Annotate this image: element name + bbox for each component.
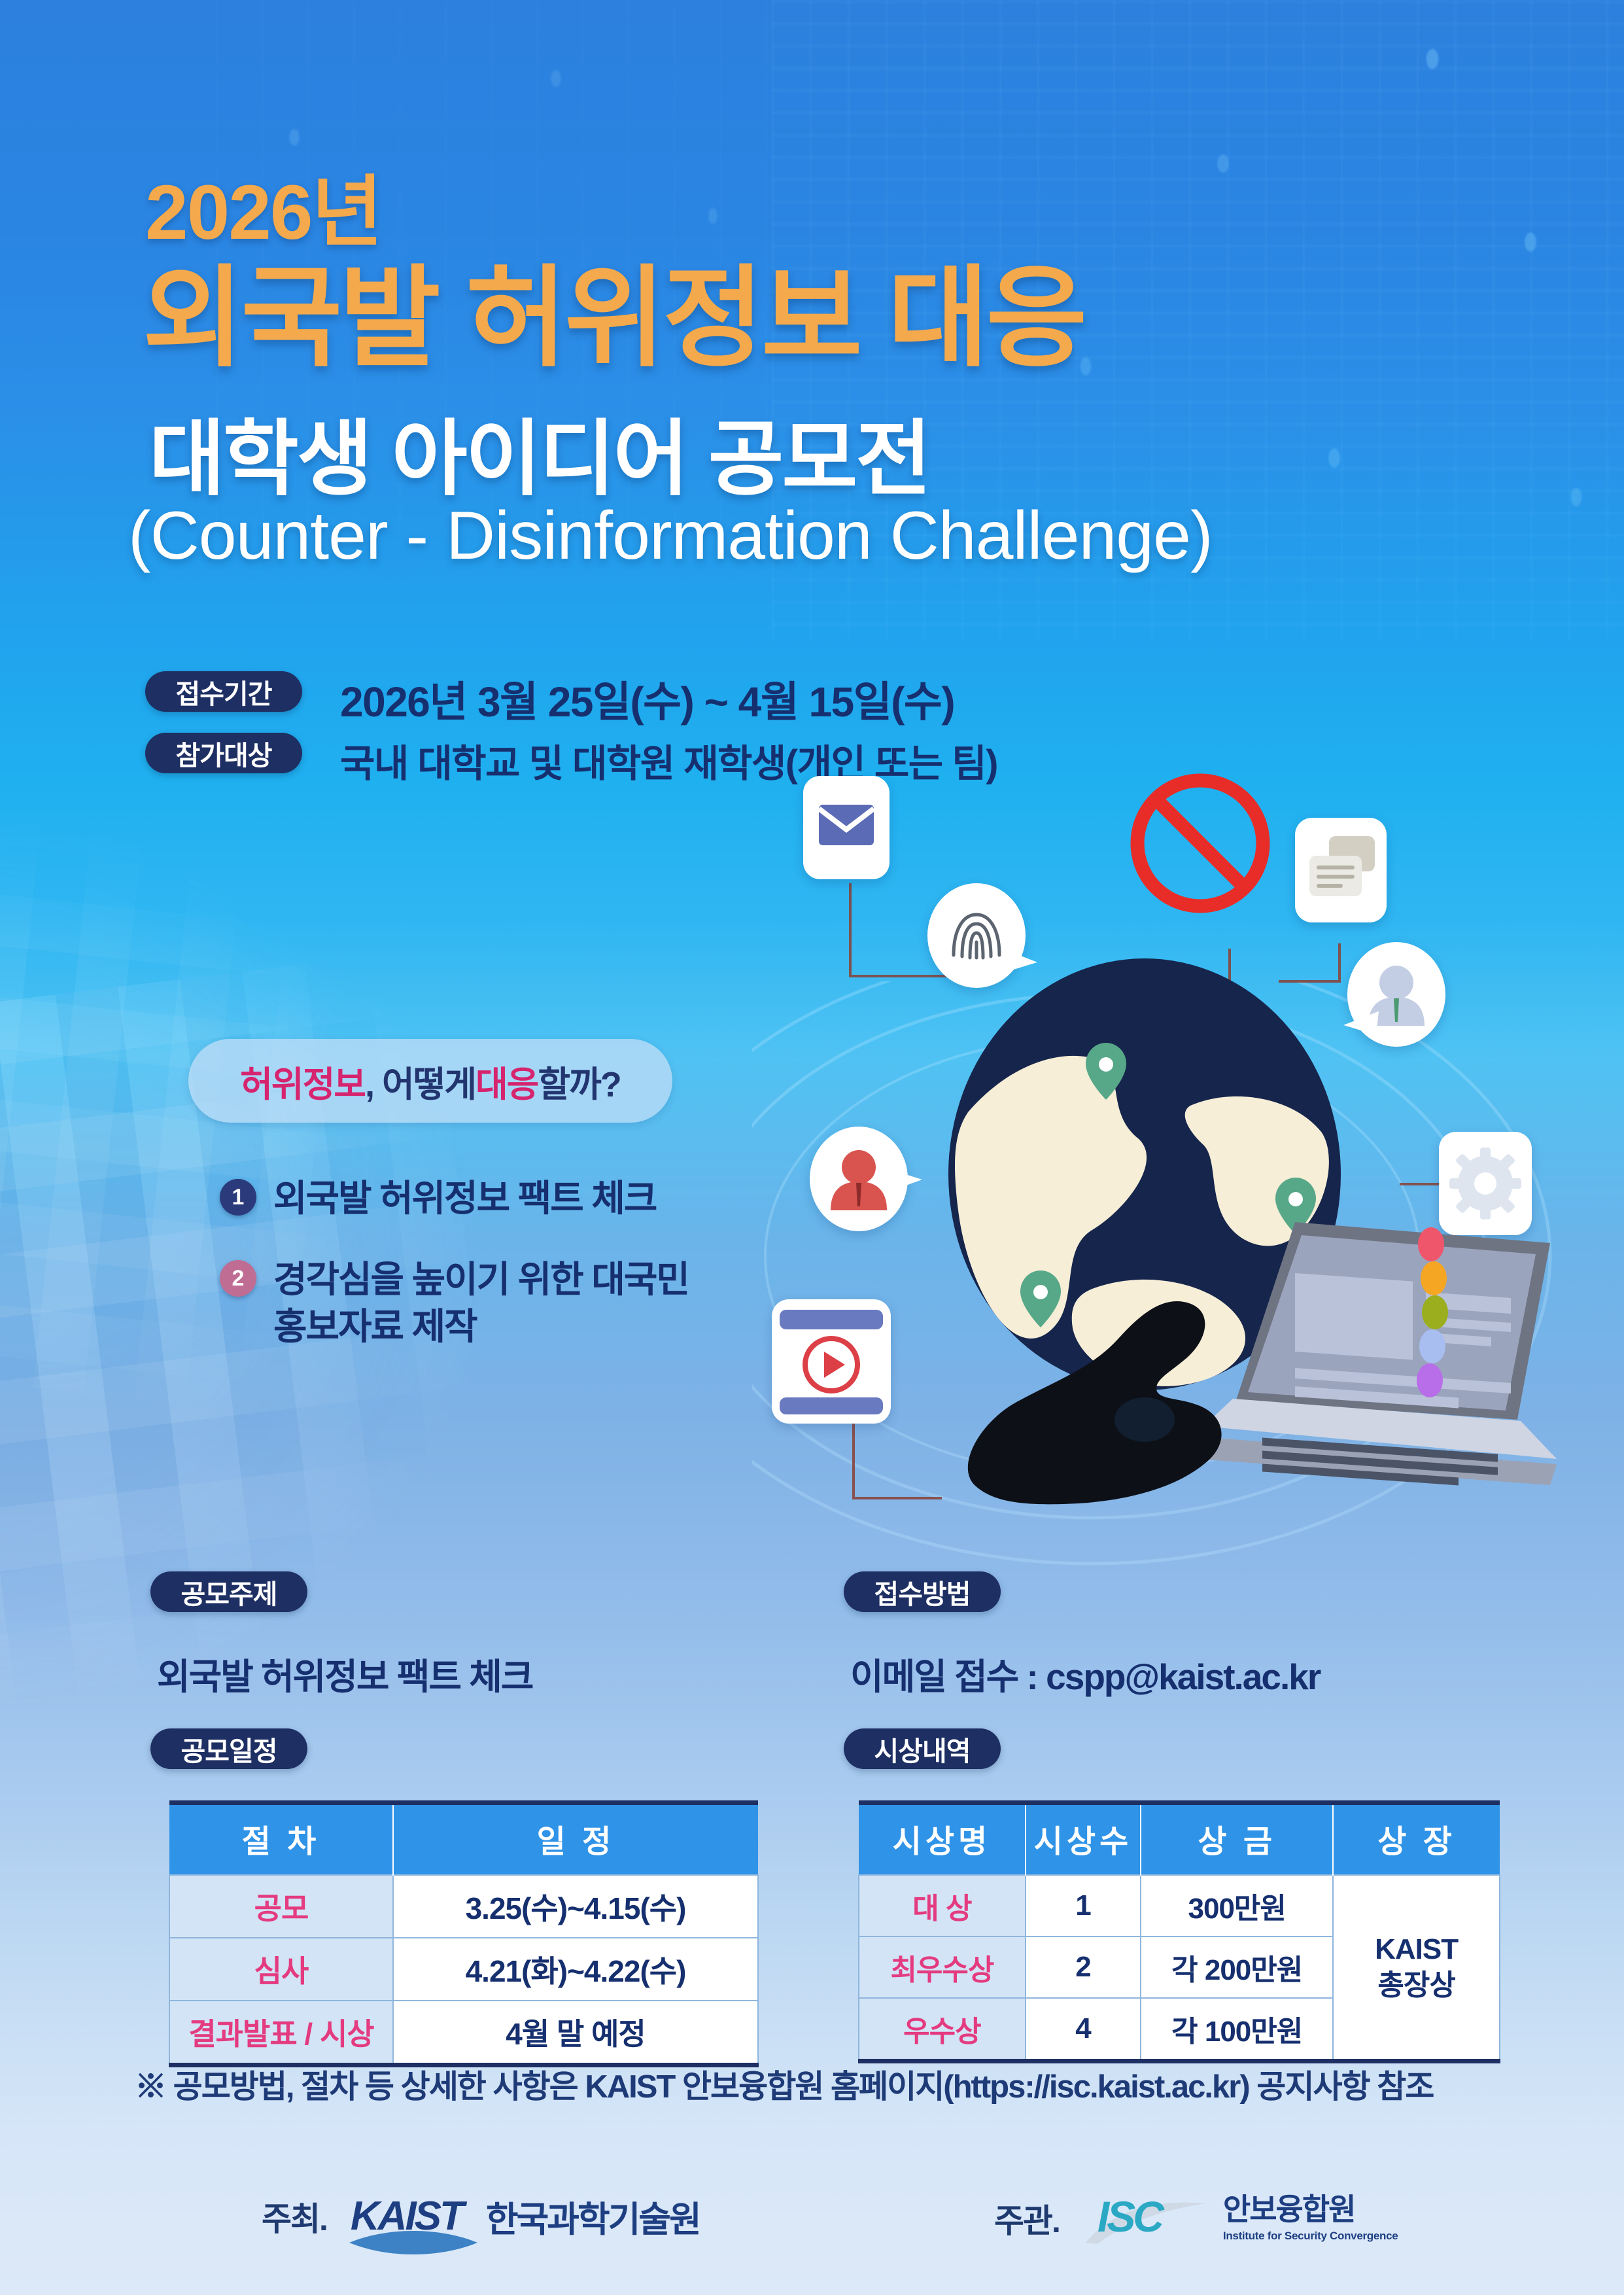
host-logo-group: 주최. KAIST 한국과학기술원 (262, 2190, 700, 2242)
decoration-dot-orange (1421, 1261, 1447, 1295)
prize-cell-certificate: KAIST 총장상 (1333, 1875, 1500, 2061)
host-label: 주최. (262, 2193, 327, 2240)
question-text-highlight-2: 대응 (475, 1055, 538, 1107)
table-header-row: 절 차 일 정 (169, 1803, 758, 1876)
section-value-topic: 외국발 허위정보 팩트 체크 (157, 1647, 532, 1700)
schedule-cell-date-0: 3.25(수)~4.15(수) (393, 1875, 758, 1938)
schedule-table: 절 차 일 정 공모 3.25(수)~4.15(수) 심사 4.21(화)~4.… (169, 1800, 759, 2067)
page-title-sub: 대학생 아이디어 공모전 (149, 393, 929, 512)
prize-cell-name-0: 대 상 (859, 1875, 1026, 1936)
prize-cell-count-0: 1 (1026, 1875, 1141, 1936)
schedule-cell-step-1: 심사 (169, 1938, 393, 2001)
chat-icon (1295, 818, 1387, 922)
footnote-text: ※ 공모방법, 절차 등 상세한 사항은 KAIST 안보융합원 홈페이지(ht… (135, 2061, 1433, 2107)
decoration-dot-green (1422, 1295, 1448, 1329)
table-row: 심사 4.21(화)~4.22(수) (169, 1938, 758, 2001)
prize-header-certificate: 상 장 (1333, 1803, 1500, 1876)
question-text-highlight-1: 허위정보 (240, 1055, 365, 1107)
kaist-logo-swoosh (348, 2231, 479, 2254)
organizer-label: 주관. (994, 2195, 1060, 2242)
table-row: 결과발표 / 시상 4월 말 예정 (169, 2001, 758, 2065)
prize-header-count: 시상수 (1026, 1803, 1141, 1876)
list-number-2: 2 (220, 1260, 256, 1297)
schedule-header-step: 절 차 (169, 1803, 393, 1876)
illustration-group (733, 752, 1583, 1524)
schedule-cell-date-2: 4월 말 예정 (393, 2001, 758, 2065)
video-play-icon (772, 1299, 891, 1424)
list-item: 2 경각심을 높이기 위한 대국민 홍보자료 제작 (220, 1256, 689, 1350)
table-row: 대 상 1 300만원 KAIST 총장상 (859, 1875, 1500, 1936)
prize-cell-amount-2: 각 100만원 (1141, 1998, 1333, 2061)
prize-header-name: 시상명 (859, 1803, 1026, 1876)
list-text-1: 외국발 허위정보 팩트 체크 (273, 1175, 656, 1222)
prize-cell-count-1: 2 (1026, 1936, 1141, 1998)
page-title-main: 외국발 허위정보 대응 (143, 229, 1084, 388)
prize-cell-name-1: 최우수상 (859, 1936, 1026, 1998)
kaist-logo: KAIST (351, 2193, 462, 2239)
isc-logo: ISC (1083, 2190, 1207, 2247)
hand-icon (948, 1204, 1302, 1511)
organizer-subtitle: Institute for Security Convergence (1223, 2230, 1398, 2243)
organizer-name-group: 안보융합원 Institute for Security Convergence (1223, 2194, 1398, 2243)
decoration-dot-purple (1417, 1363, 1443, 1397)
list-item: 1 외국발 허위정보 팩트 체크 (220, 1175, 656, 1222)
organizer-logo-group: 주관. ISC 안보융합원 Institute for Security Con… (994, 2190, 1398, 2247)
table-row: 공모 3.25(수)~4.15(수) (169, 1875, 758, 1938)
decoration-dot-blue (1419, 1329, 1445, 1363)
page-title-english: (Counter - Disinformation Challenge) (128, 497, 1213, 575)
table-header-row: 시상명 시상수 상 금 상 장 (859, 1803, 1500, 1876)
person-blue-icon (1347, 942, 1445, 1047)
prize-header-amount: 상 금 (1141, 1803, 1333, 1876)
prize-cell-count-2: 4 (1026, 1998, 1141, 2061)
section-label-schedule: 공모일정 (150, 1728, 307, 1769)
prize-cell-name-2: 우수상 (859, 1998, 1026, 2061)
section-label-apply-method: 접수방법 (844, 1571, 1001, 1612)
list-number-1: 1 (220, 1179, 256, 1216)
mail-icon (803, 776, 890, 879)
schedule-cell-date-1: 4.21(화)~4.22(수) (393, 1938, 758, 2001)
meta-label-eligibility: 참가대상 (145, 733, 302, 773)
isc-logo-wordmark: ISC (1097, 2192, 1162, 2241)
prohibited-icon (1125, 768, 1275, 919)
question-banner: 허위정보, 어떻게 대응할까? (188, 1039, 672, 1123)
question-text-plain-1: , 어떻게 (365, 1055, 475, 1107)
section-value-apply-method: 이메일 접수 : cspp@kaist.ac.kr (850, 1647, 1320, 1700)
fingerprint-icon (927, 883, 1026, 988)
host-name: 한국과학기술원 (486, 2190, 700, 2242)
schedule-cell-step-2: 결과발표 / 시상 (169, 2001, 393, 2065)
list-text-2: 경각심을 높이기 위한 대국민 홍보자료 제작 (273, 1256, 689, 1350)
meta-label-application-period: 접수기간 (145, 671, 302, 712)
organizer-name: 안보융합원 (1223, 2194, 1398, 2224)
section-label-topic: 공모주제 (150, 1571, 307, 1612)
poster-canvas: 2026년 외국발 허위정보 대응 대학생 아이디어 공모전 (Counter … (0, 0, 1624, 2295)
decoration-dot-red (1418, 1227, 1444, 1261)
meta-value-application-period: 2026년 3월 25일(수) ~ 4월 15일(수) (340, 669, 954, 729)
prize-cell-amount-1: 각 200만원 (1141, 1936, 1333, 1998)
person-red-icon (810, 1127, 908, 1231)
prize-table: 시상명 시상수 상 금 상 장 대 상 1 300만원 KAIST 총장상 최우… (858, 1800, 1500, 2063)
prize-cell-amount-0: 300만원 (1141, 1875, 1333, 1936)
schedule-cell-step-0: 공모 (169, 1875, 393, 1938)
question-text-plain-2: 할까? (538, 1055, 620, 1107)
schedule-header-date: 일 정 (393, 1803, 758, 1876)
section-label-prize: 시상내역 (844, 1728, 1001, 1769)
